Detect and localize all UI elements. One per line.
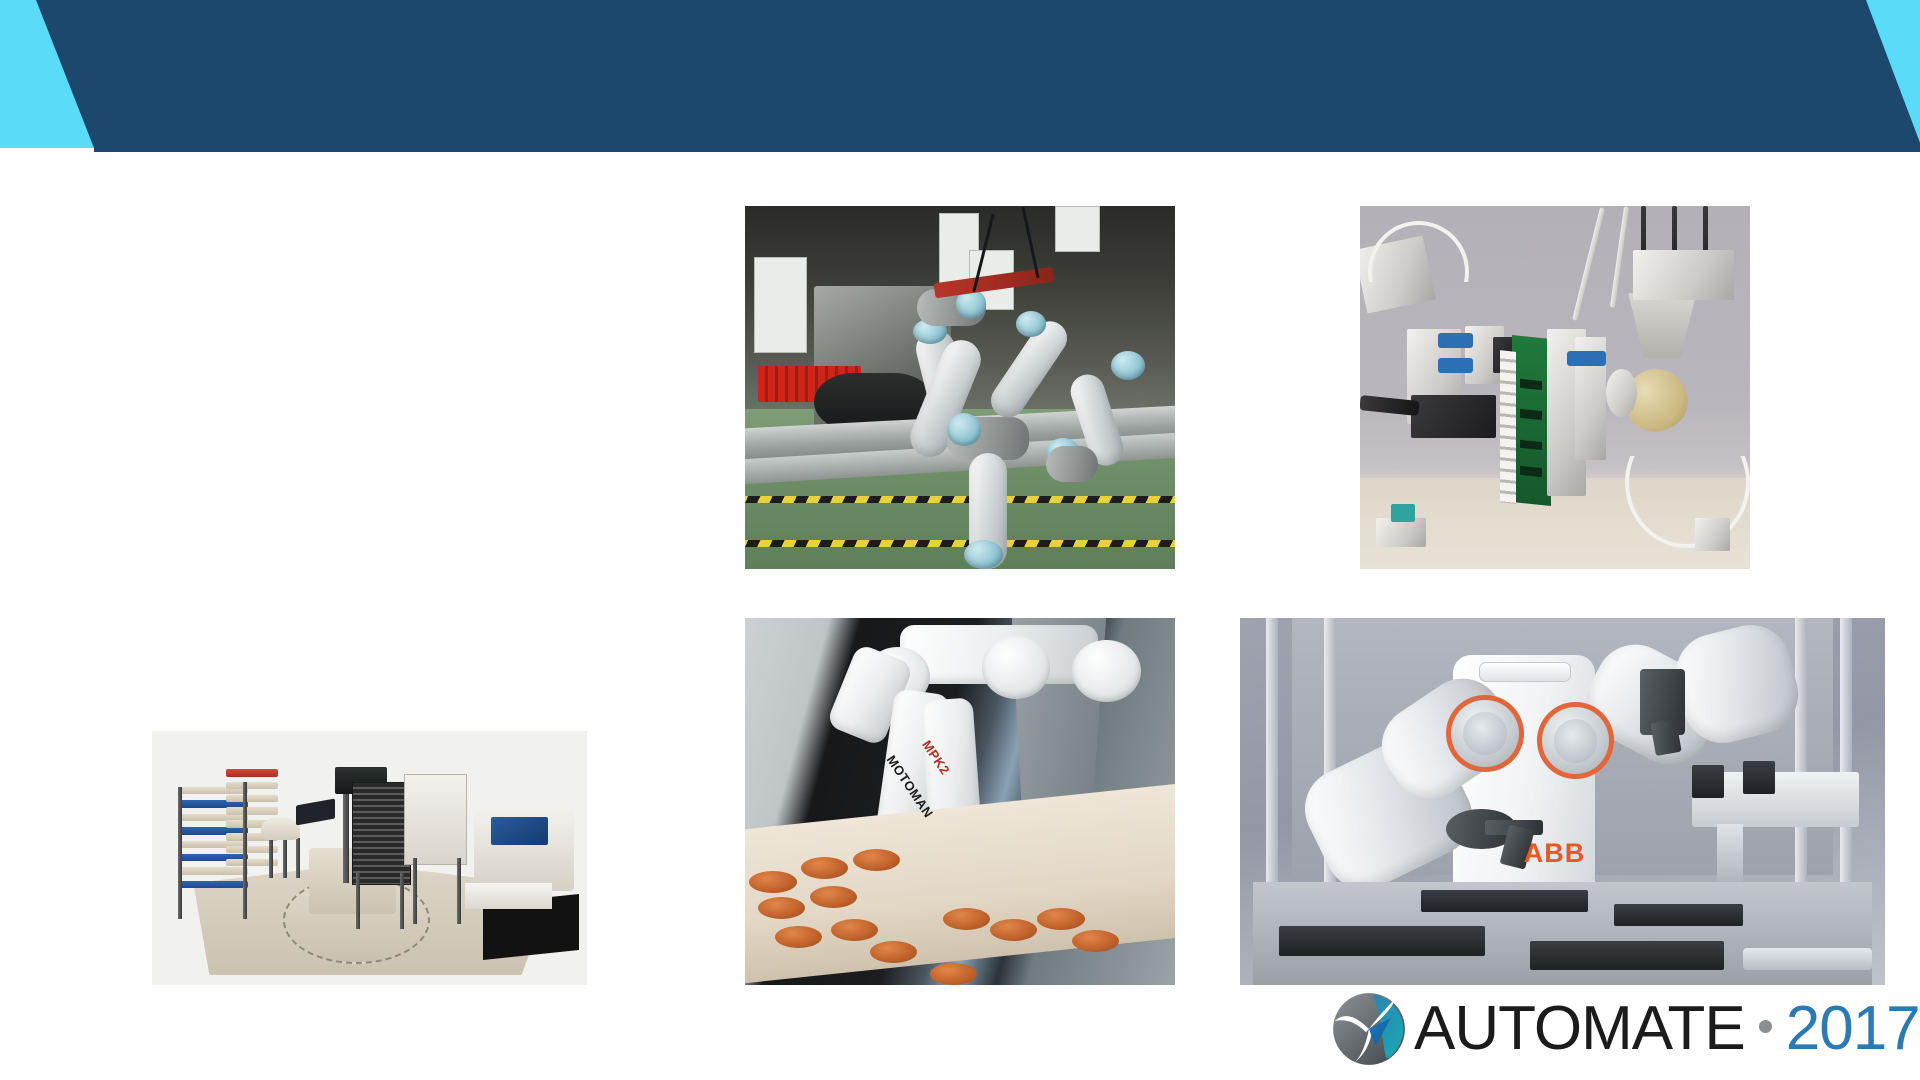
banner-navy-shape	[0, 0, 1920, 160]
logo-separator-dot-icon	[1759, 1020, 1772, 1033]
photo-motoman-mpk2-biscuit-picking: MOTOMAN MPK2	[745, 618, 1175, 985]
slide-canvas: MOTOMAN MPK2	[0, 0, 1920, 1080]
photo-universal-robot-engine-line	[745, 206, 1175, 569]
photo-precision-pcb-assembly	[1360, 206, 1750, 569]
automate-circular-mark-icon	[1330, 990, 1408, 1068]
top-banner	[0, 0, 1920, 160]
automate-wordmark: AUTOMATE	[1414, 998, 1745, 1060]
photo-laboratory-automation-workstation	[152, 731, 587, 985]
automate-year: 2017	[1786, 998, 1920, 1060]
photo-abb-yumi-dual-arm-robot: ABB	[1240, 618, 1885, 985]
slide-text-column	[60, 200, 680, 670]
automate-2017-logo: AUTOMATE 2017	[1330, 988, 1920, 1070]
robot-brand-label-abb: ABB	[1524, 838, 1586, 869]
